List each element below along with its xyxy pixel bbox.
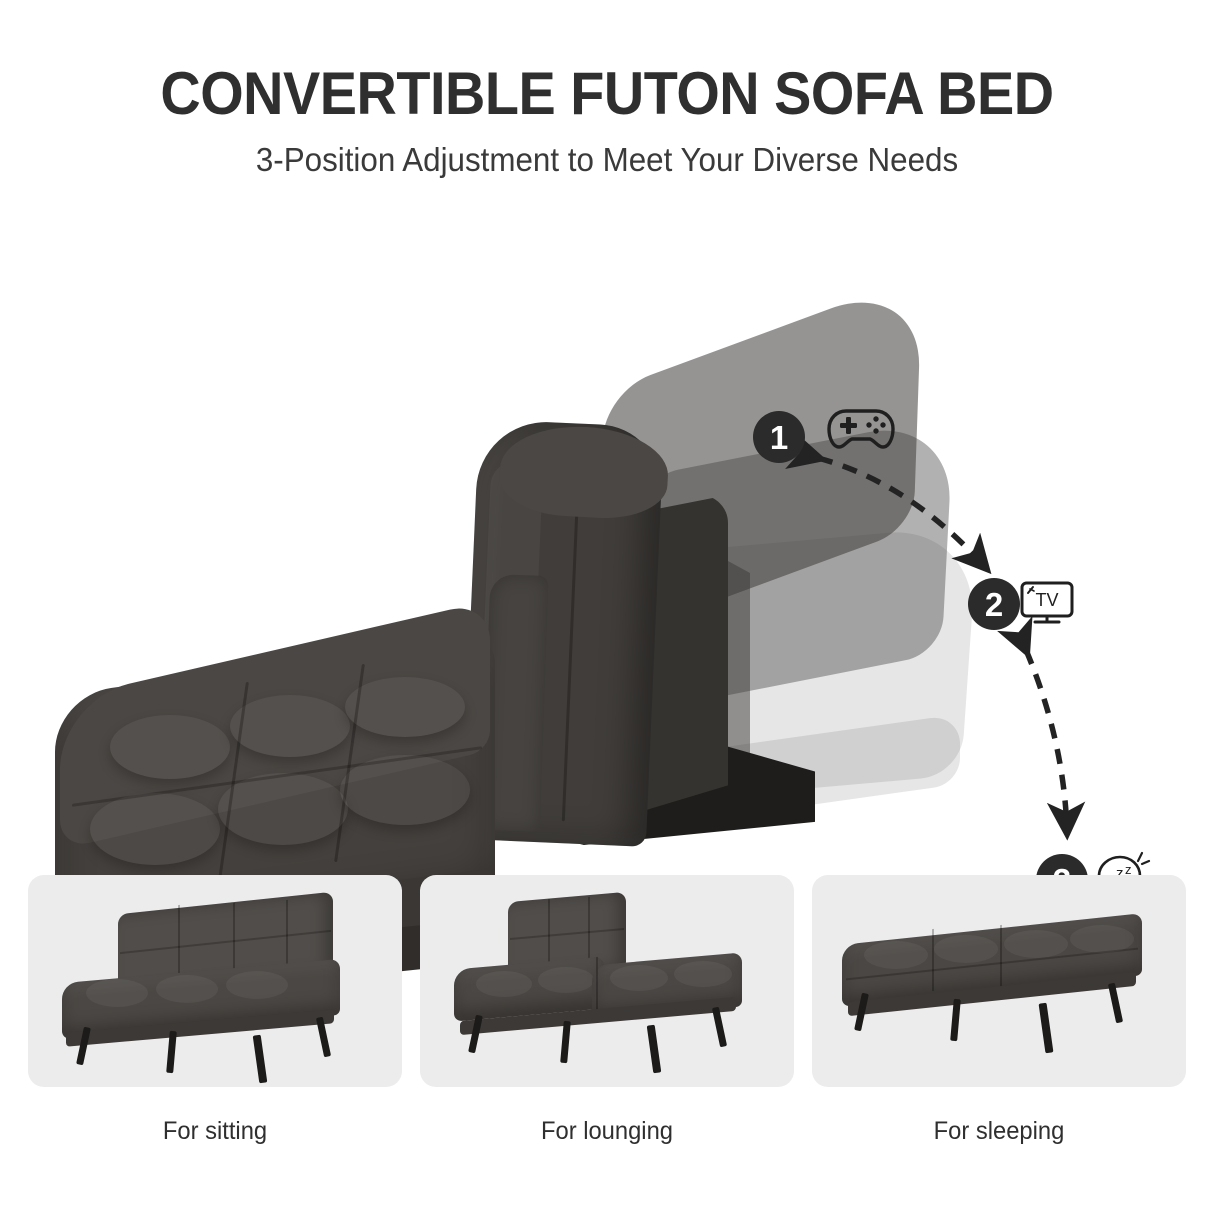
tv-icon-label: TV — [1035, 590, 1058, 610]
card-for-sleeping[interactable]: For sleeping — [812, 875, 1186, 1195]
mini-seam — [596, 957, 598, 1013]
callout-2-badge: 2 — [968, 578, 1020, 630]
card-for-sitting[interactable]: For sitting — [28, 875, 402, 1195]
mini-tuft — [934, 935, 998, 963]
card-caption-lounging: For lounging — [429, 1117, 784, 1146]
callout-1-badge: 1 — [753, 411, 805, 463]
mini-leg — [1039, 1003, 1054, 1054]
mini-tuft — [226, 971, 288, 999]
mini-tuft — [864, 941, 928, 969]
callout-arrows — [0, 195, 1214, 860]
header: CONVERTIBLE FUTON SOFA BED 3-Position Ad… — [0, 0, 1214, 179]
hero-section: 1 2 TV 3 z z z — [0, 195, 1214, 860]
card-image-sleeping — [812, 875, 1186, 1087]
card-image-sitting — [28, 875, 402, 1087]
card-caption-sitting: For sitting — [37, 1117, 392, 1146]
mini-tuft — [476, 971, 532, 997]
mini-leg — [1108, 983, 1123, 1024]
mini-seam — [1000, 925, 1002, 987]
arrow-1-to-2 — [818, 458, 985, 567]
mini-leg — [647, 1025, 662, 1074]
mini-tuft — [538, 967, 594, 993]
mini-tuft — [610, 965, 668, 991]
page-subtitle: 3-Position Adjustment to Meet Your Diver… — [30, 141, 1183, 179]
gamepad-icon — [824, 401, 898, 462]
position-cards: For sitting For lounging — [28, 875, 1186, 1195]
arrow-2-to-3 — [1026, 650, 1067, 831]
mini-leg — [253, 1035, 268, 1084]
page-title: CONVERTIBLE FUTON SOFA BED — [42, 62, 1171, 125]
mini-tuft — [674, 961, 732, 987]
card-for-lounging[interactable]: For lounging — [420, 875, 794, 1195]
mini-tuft — [1004, 930, 1068, 958]
mini-leg — [712, 1007, 727, 1048]
mini-tuft — [86, 979, 148, 1007]
mini-seam — [932, 929, 934, 991]
card-image-lounging — [420, 875, 794, 1087]
mini-leg — [560, 1021, 571, 1063]
mini-seam — [178, 905, 180, 981]
tv-icon: TV — [1018, 579, 1076, 634]
card-caption-sleeping: For sleeping — [821, 1117, 1176, 1146]
mini-tuft — [156, 975, 218, 1003]
